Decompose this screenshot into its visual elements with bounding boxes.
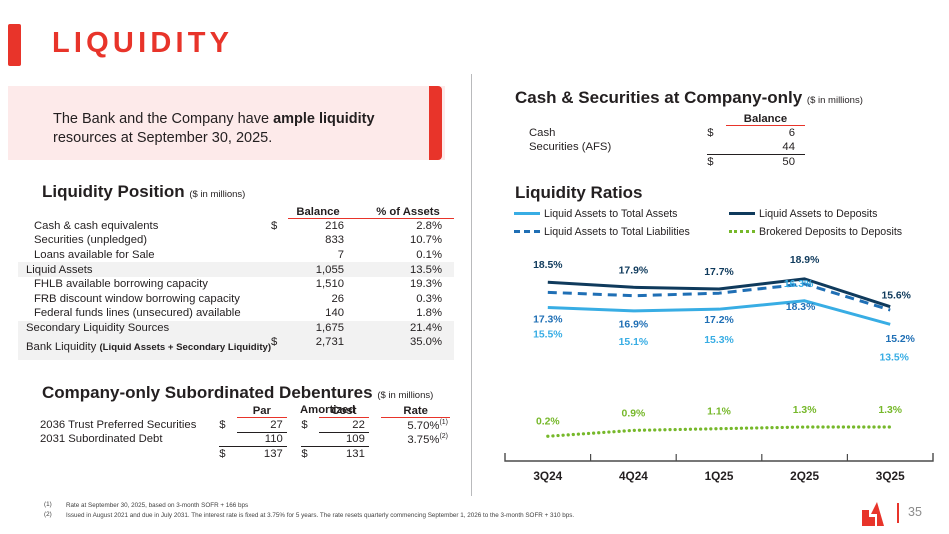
row-cost: 109 — [319, 432, 369, 447]
row-rate-footnote: (2) — [439, 433, 448, 440]
chart-x-label-3Q25: 3Q25 — [876, 469, 905, 483]
footnote-1-text: Rate at September 30, 2025, based on 3-m… — [66, 501, 248, 510]
total-cost: 131 — [319, 447, 369, 462]
table-row: FHLB available borrowing capacity 1,510 … — [18, 277, 454, 292]
liquidity-ratios-heading: Liquidity Ratios — [515, 183, 643, 203]
row-balance: 833 — [288, 233, 348, 248]
column-header-rate: Rate — [381, 405, 450, 418]
row-rate-footnote: (1) — [439, 419, 448, 426]
column-header-pct-assets: % of Assets — [362, 206, 454, 219]
row-label: 2036 Trust Preferred Securities — [30, 418, 219, 433]
grand-total-pct: 35.0% — [362, 335, 454, 360]
chart-data-label: 18.9% — [790, 255, 819, 266]
callout-text: The Bank and the Company have ample liqu… — [53, 110, 403, 148]
chart-data-label: 18.5% — [533, 260, 562, 271]
row-label: Securities (AFS) — [515, 140, 707, 155]
row-currency — [271, 262, 288, 277]
row-label: Secondary Liquidity Sources — [18, 321, 271, 336]
row-currency: $ — [707, 126, 726, 141]
chart-data-label: 17.3% — [533, 314, 562, 325]
row-balance: 1,055 — [288, 262, 348, 277]
row-par-currency — [219, 432, 237, 447]
vertical-divider — [471, 74, 472, 496]
total-currency: $ — [707, 155, 726, 170]
liquidity-position-unit: ($ in millions) — [189, 189, 245, 200]
row-currency — [271, 321, 288, 336]
table-header-row: Par Cost Rate — [30, 405, 450, 418]
row-balance: 26 — [288, 291, 348, 306]
row-balance: 7 — [288, 248, 348, 263]
row-currency — [271, 277, 288, 292]
chart-data-label: 1.3% — [878, 405, 902, 416]
chart-data-label: 15.3% — [704, 335, 733, 346]
chart-series-line-3 — [548, 427, 890, 436]
row-cost-currency — [301, 432, 319, 447]
chart-x-label-4Q24: 4Q24 — [619, 469, 648, 483]
table-row: 2031 Subordinated Debt 110 109 3.75%(2) — [30, 432, 450, 447]
table-row: Securities (AFS) 44 — [515, 140, 805, 155]
chart-data-label: 17.7% — [704, 267, 733, 278]
footnote-1-marker: (1) — [44, 501, 52, 508]
chart-x-label-2Q25: 2Q25 — [790, 469, 819, 483]
row-currency — [271, 248, 288, 263]
chart-data-label: 17.2% — [704, 315, 733, 326]
cash-securities-heading: Cash & Securities at Company-only ($ in … — [515, 88, 863, 108]
column-header-cost: Cost — [319, 405, 369, 418]
row-pct: 2.8% — [362, 219, 454, 234]
row-pct: 0.1% — [362, 248, 454, 263]
footnote-2-marker: (2) — [44, 511, 52, 518]
grand-total-currency: $ — [271, 335, 288, 360]
row-balance: 140 — [288, 306, 348, 321]
chart-data-label: 0.9% — [622, 408, 646, 419]
debentures-title: Company-only Subordinated Debentures — [42, 383, 373, 402]
chart-data-label: 16.9% — [619, 320, 648, 331]
table-row: Cash $ 6 — [515, 126, 805, 141]
page-number: 35 — [908, 505, 922, 519]
table-row: FRB discount window borrowing capacity 2… — [18, 291, 454, 306]
debentures-table: Par Cost Rate 2036 Trust Preferred Secur… — [30, 405, 450, 461]
liquidity-ratios-chart: 15.5%15.1%15.3%16.3%13.5%18.5%17.9%17.7%… — [497, 205, 937, 490]
total-balance: 50 — [726, 155, 805, 170]
table-row: Loans available for Sale 7 0.1% — [18, 248, 454, 263]
table-row-grand-total: Bank Liquidity (Liquid Assets + Secondar… — [18, 335, 454, 360]
cash-securities-unit: ($ in millions) — [807, 95, 863, 106]
row-label: Liquid Assets — [18, 262, 271, 277]
grand-total-label: Bank Liquidity — [26, 341, 96, 353]
liquidity-position-table: Balance % of Assets Cash & cash equivale… — [18, 206, 454, 360]
chart-data-label: 17.9% — [619, 265, 648, 276]
row-currency — [271, 306, 288, 321]
chart-data-label: 15.5% — [533, 329, 562, 340]
row-pct: 0.3% — [362, 291, 454, 306]
row-label: Federal funds lines (unsecured) availabl… — [18, 306, 271, 321]
row-cost-currency: $ — [301, 418, 319, 433]
callout-text-bold: ample liquidity — [273, 111, 375, 127]
row-currency — [707, 140, 726, 155]
chart-data-label: 16.3% — [784, 279, 813, 290]
row-balance: 6 — [726, 126, 805, 141]
row-currency: $ — [271, 219, 288, 234]
page-title: LIQUIDITY — [52, 27, 233, 60]
table-row: 2036 Trust Preferred Securities $ 27 $ 2… — [30, 418, 450, 433]
chart-data-label: 15.1% — [619, 337, 648, 348]
total-cost-currency: $ — [301, 447, 319, 462]
chart-data-label: 15.2% — [885, 334, 914, 345]
chart-data-label: 13.5% — [879, 352, 908, 363]
chart-data-label: 18.3% — [786, 302, 815, 313]
row-pct: 19.3% — [362, 277, 454, 292]
chart-data-label: 1.1% — [707, 407, 731, 418]
table-header-row: Balance — [515, 113, 805, 126]
table-header-row: Balance % of Assets — [18, 206, 454, 219]
row-currency — [271, 291, 288, 306]
table-row-total: Liquid Assets 1,055 13.5% — [18, 262, 454, 277]
row-cost: 22 — [319, 418, 369, 433]
chart-data-label: 15.6% — [881, 291, 910, 302]
chart-data-label: 1.3% — [793, 405, 817, 416]
title-accent-bar — [8, 24, 21, 66]
row-label: Securities (unpledged) — [18, 233, 271, 248]
grand-total-sublabel: (Liquid Assets + Secondary Liquidity) — [99, 342, 271, 353]
row-pct: 13.5% — [362, 262, 454, 277]
table-row-total: $ 50 — [515, 155, 805, 170]
table-row: Cash & cash equivalents $ 216 2.8% — [18, 219, 454, 234]
liquidity-position-heading: Liquidity Position ($ in millions) — [42, 182, 245, 202]
footnote-2-text: Issued in August 2021 and due in July 20… — [66, 511, 574, 520]
slide: LIQUIDITY The Bank and the Company have … — [0, 0, 949, 534]
cash-securities-title: Cash & Securities at Company-only — [515, 88, 802, 107]
row-rate: 5.70% — [407, 419, 439, 431]
chart-svg: 15.5%15.1%15.3%16.3%13.5%18.5%17.9%17.7%… — [497, 205, 937, 490]
row-balance: 1,510 — [288, 277, 348, 292]
row-balance: 1,675 — [288, 321, 348, 336]
table-row-total: Secondary Liquidity Sources 1,675 21.4% — [18, 321, 454, 336]
column-header-balance: Balance — [726, 113, 805, 126]
row-label: FHLB available borrowing capacity — [18, 277, 271, 292]
total-par: 137 — [237, 447, 287, 462]
row-par: 110 — [237, 432, 287, 447]
row-label: 2031 Subordinated Debt — [30, 432, 219, 447]
row-balance: 44 — [726, 140, 805, 155]
row-pct: 21.4% — [362, 321, 454, 336]
chart-x-label-1Q25: 1Q25 — [705, 469, 734, 483]
table-row: Federal funds lines (unsecured) availabl… — [18, 306, 454, 321]
callout-accent-bar — [429, 86, 442, 160]
row-label: Cash & cash equivalents — [18, 219, 271, 234]
table-row-total: $ 137 $ 131 — [30, 447, 450, 462]
row-pct: 1.8% — [362, 306, 454, 321]
chart-data-label: 0.2% — [536, 416, 560, 427]
row-par-currency: $ — [219, 418, 237, 433]
callout-text-before: The Bank and the Company have — [53, 111, 273, 127]
liquidity-position-title: Liquidity Position — [42, 182, 185, 201]
table-row: Securities (unpledged) 833 10.7% — [18, 233, 454, 248]
column-header-par: Par — [237, 405, 287, 418]
grand-total-balance: 2,731 — [288, 335, 348, 360]
row-pct: 10.7% — [362, 233, 454, 248]
row-label: Loans available for Sale — [18, 248, 271, 263]
row-par: 27 — [237, 418, 287, 433]
footer-divider — [897, 503, 899, 523]
chart-axis-line — [505, 453, 933, 461]
debentures-heading: Company-only Subordinated Debentures ($ … — [42, 383, 433, 403]
total-par-currency: $ — [219, 447, 237, 462]
row-label: FRB discount window borrowing capacity — [18, 291, 271, 306]
column-header-balance: Balance — [288, 206, 348, 219]
callout-text-after: resources at September 30, 2025. — [53, 130, 272, 146]
chart-x-label-3Q24: 3Q24 — [533, 469, 562, 483]
cash-securities-table: Balance Cash $ 6 Securities (AFS) 44 $ 5… — [515, 113, 805, 169]
row-label: Cash — [515, 126, 707, 141]
row-rate: 3.75% — [407, 434, 439, 446]
company-logo-icon — [858, 500, 890, 528]
row-balance: 216 — [288, 219, 348, 234]
row-currency — [271, 233, 288, 248]
debentures-unit: ($ in millions) — [377, 390, 433, 401]
